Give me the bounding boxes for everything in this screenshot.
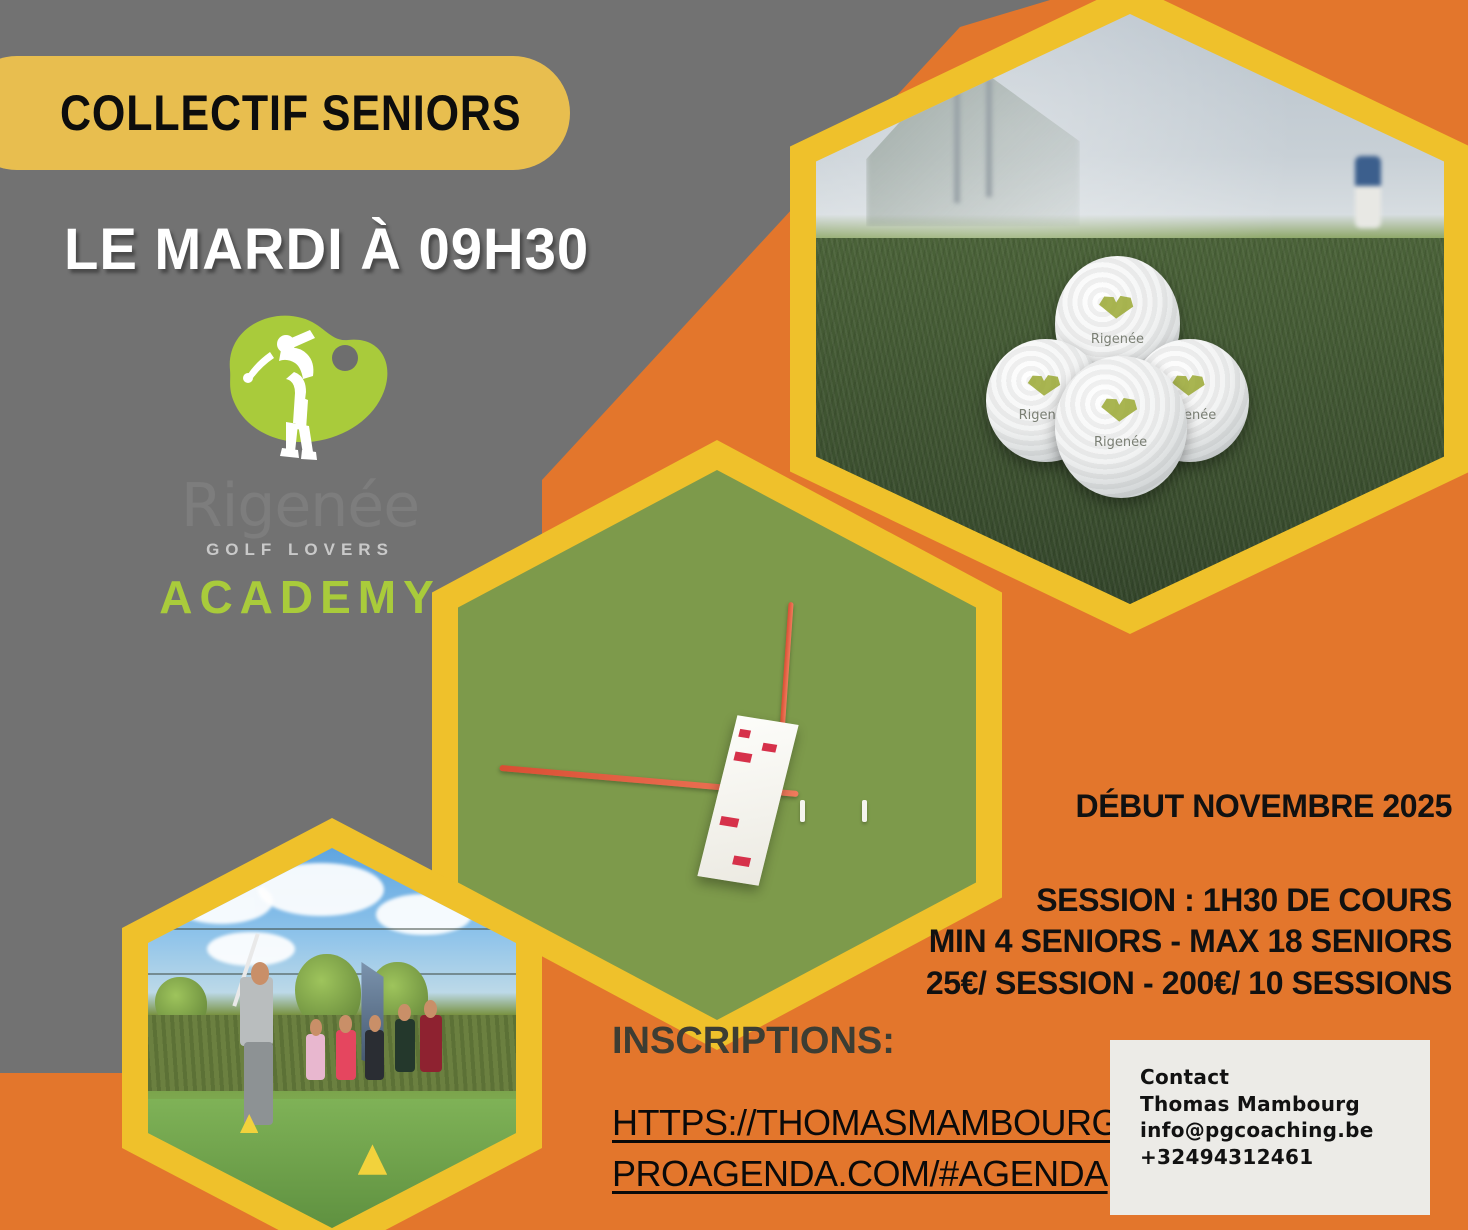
registration-link[interactable]: HTTPS://THOMASMAMBOURG. PROAGENDA.COM/#A… <box>612 1097 1129 1199</box>
contact-email[interactable]: info@pgcoaching.be <box>1140 1117 1430 1144</box>
session-duration: SESSION : 1H30 DE COURS <box>852 880 1452 922</box>
title-banner-text: COLLECTIF SENIORS <box>60 84 521 142</box>
registration-url-line-2[interactable]: PROAGENDA.COM/#AGENDA <box>612 1148 1129 1199</box>
academy-logo: Rigenée GOLF LOVERS ACADEMY <box>150 300 450 620</box>
title-banner: COLLECTIF SENIORS <box>0 56 570 170</box>
contact-heading: Contact <box>1140 1064 1430 1091</box>
photo-frame: Rigenée Rigenée Rigenée Rigenée <box>816 14 1444 604</box>
logo-academy-text: ACADEMY <box>150 570 450 624</box>
registration-label: INSCRIPTIONS: <box>612 1020 1129 1063</box>
logo-wordmark: Rigenée <box>150 476 450 536</box>
start-date: DÉBUT NOVEMBRE 2025 <box>852 786 1452 828</box>
contact-name: Thomas Mambourg <box>1140 1091 1430 1118</box>
registration-url-line-1[interactable]: HTTPS://THOMASMAMBOURG. <box>612 1097 1129 1148</box>
golf-balls-photo: Rigenée Rigenée Rigenée Rigenée <box>816 14 1444 604</box>
course-info-block: DÉBUT NOVEMBRE 2025 SESSION : 1H30 DE CO… <box>852 786 1452 1004</box>
photo-frame <box>148 848 516 1228</box>
pricing: 25€/ SESSION - 200€/ 10 SESSIONS <box>852 963 1452 1005</box>
capacity: MIN 4 SENIORS - MAX 18 SENIORS <box>852 921 1452 963</box>
registration-block: INSCRIPTIONS: HTTPS://THOMASMAMBOURG. PR… <box>612 1020 1129 1199</box>
schedule-subtitle: LE MARDI À 09H30 <box>64 216 589 283</box>
contact-card: Contact Thomas Mambourg info@pgcoaching.… <box>1110 1040 1430 1215</box>
contact-phone[interactable]: +32494312461 <box>1140 1144 1430 1171</box>
golfer-silhouette-icon <box>190 300 410 480</box>
poster-canvas: Rigenée Rigenée Rigenée Rigenée <box>0 0 1468 1230</box>
group-lesson-photo <box>148 848 516 1228</box>
logo-tagline: GOLF LOVERS <box>150 540 450 560</box>
